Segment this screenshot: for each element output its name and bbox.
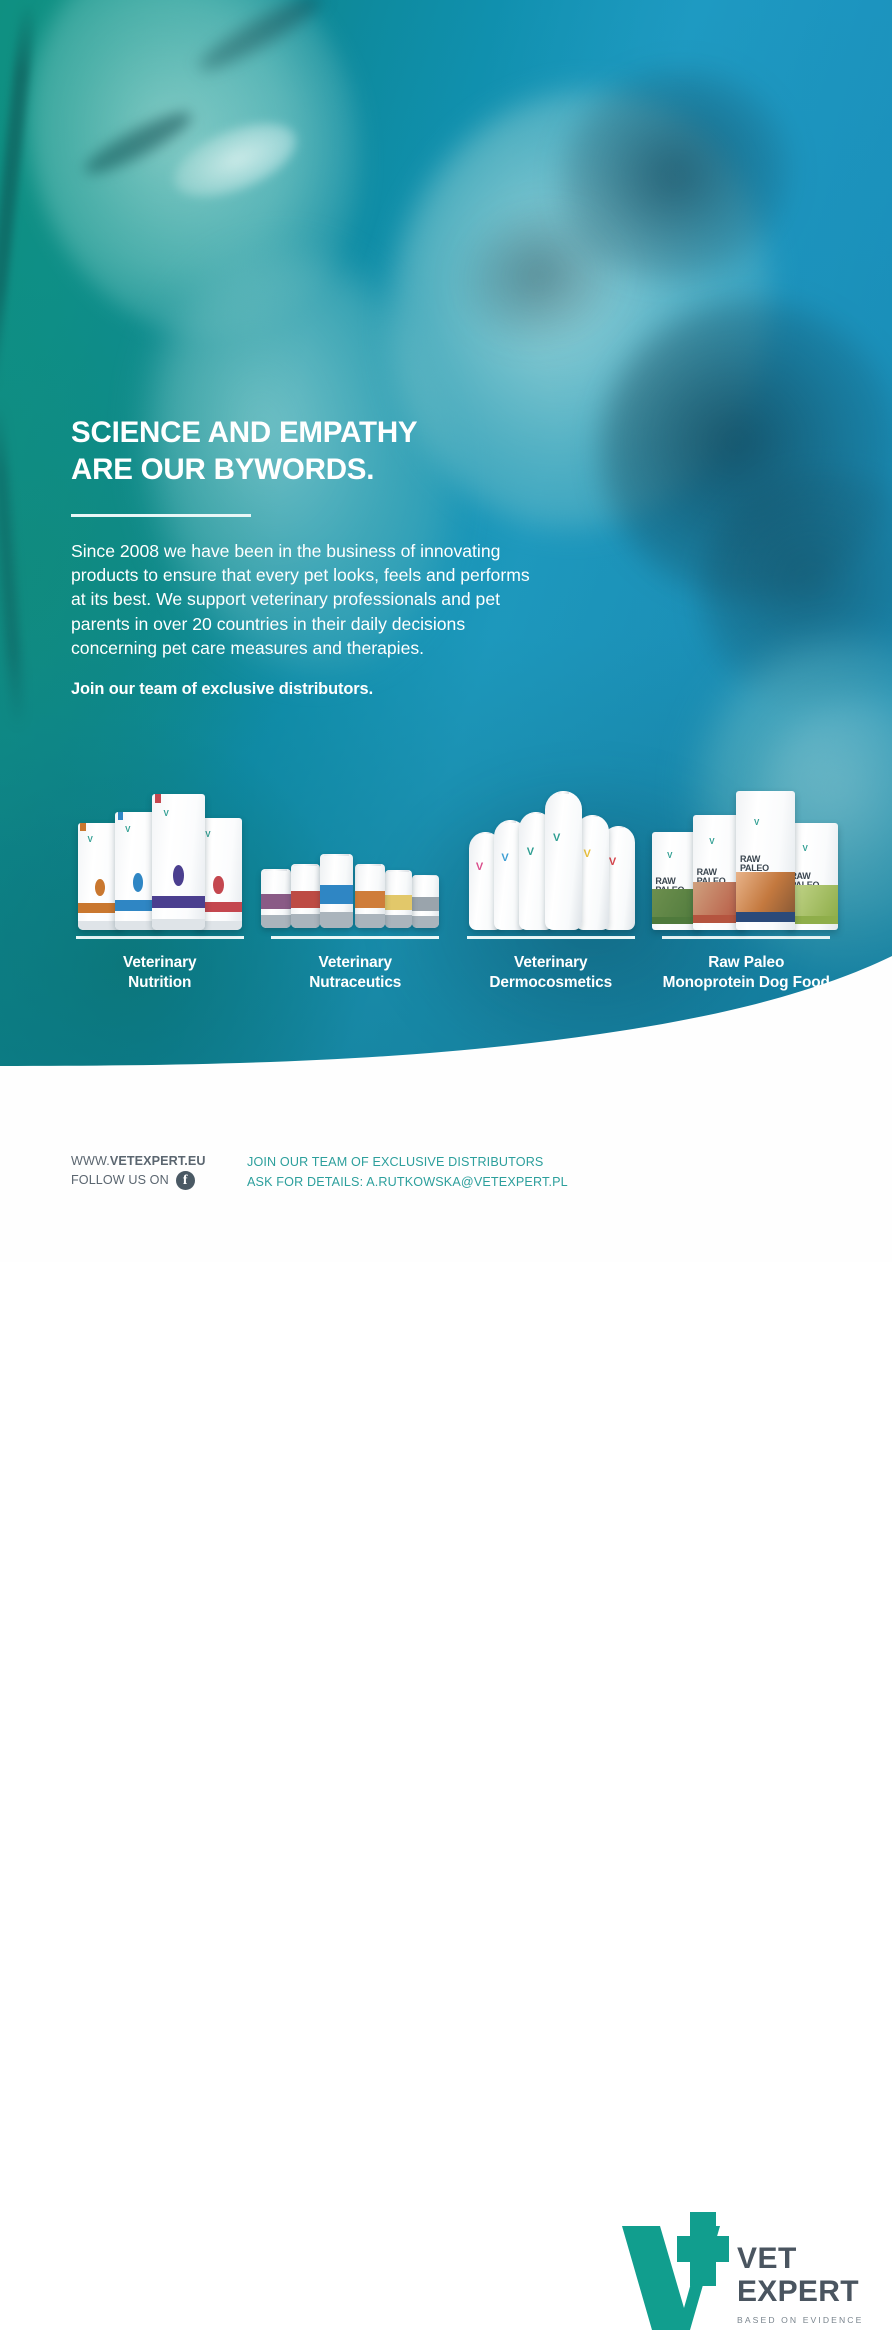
logo-tagline: BASED ON EVIDENCE bbox=[737, 2316, 863, 2325]
footer-distributor-block: JOIN OUR TEAM OF EXCLUSIVE DISTRIBUTORS … bbox=[247, 1152, 568, 1192]
supplement-bottle-4 bbox=[355, 864, 384, 928]
supplement-bottles-icon bbox=[258, 786, 454, 934]
category-label-1: Veterinary Nutrition bbox=[123, 953, 196, 992]
logo-line-expert: EXPERT bbox=[737, 2277, 863, 2307]
product-category-row: V V V bbox=[62, 786, 844, 996]
logo-wordmark: VET EXPERT BASED ON EVIDENCE bbox=[737, 2244, 863, 2325]
product-category-veterinary-dermocosmetics[interactable]: V V V V V V bbox=[453, 786, 649, 996]
product-category-veterinary-nutrition[interactable]: V V V bbox=[62, 786, 258, 996]
supplement-bottle-2 bbox=[291, 864, 320, 928]
hero-copy-block: SCIENCE AND EMPATHY ARE OUR BYWORDS. Sin… bbox=[71, 414, 541, 699]
facebook-icon[interactable]: f bbox=[176, 1171, 195, 1190]
cosmetic-bottle-4: V bbox=[545, 791, 582, 930]
supplement-bottle-3 bbox=[320, 854, 353, 928]
product-category-raw-paleo[interactable]: V RAWPALEO V RAWPALEO V RAWPALEO bbox=[649, 786, 845, 996]
category-label-2: Veterinary Nutraceutics bbox=[309, 953, 401, 992]
website-domain: VETEXPERT.EU bbox=[110, 1152, 206, 1171]
food-bag-3: V bbox=[152, 794, 205, 930]
distributor-headline: JOIN OUR TEAM OF EXCLUSIVE DISTRIBUTORS bbox=[247, 1152, 568, 1172]
category-divider-3 bbox=[467, 936, 635, 939]
website-row[interactable]: WWW. VETEXPERT.EU bbox=[71, 1152, 206, 1171]
supplement-bottle-1 bbox=[261, 869, 290, 928]
raw-paleo-bag-3: V RAWPALEO bbox=[736, 791, 795, 930]
cosmetic-bottles-icon: V V V V V V bbox=[453, 786, 649, 934]
category-divider-4 bbox=[662, 936, 830, 939]
footer: WWW. VETEXPERT.EU FOLLOW US ON f JOIN OU… bbox=[0, 1098, 892, 1262]
distributor-contact[interactable]: ASK FOR DETAILS: A.RUTKOWSKA@VETEXPERT.P… bbox=[247, 1172, 568, 1192]
category-label-4: Raw Paleo Monoprotein Dog Food bbox=[663, 953, 830, 992]
footer-contact-block: WWW. VETEXPERT.EU FOLLOW US ON f bbox=[71, 1152, 206, 1190]
hero-body-text: Since 2008 we have been in the business … bbox=[71, 539, 533, 660]
raw-paleo-bags-icon: V RAWPALEO V RAWPALEO V RAWPALEO bbox=[649, 786, 845, 934]
follow-us-row: FOLLOW US ON f bbox=[71, 1171, 206, 1190]
supplement-bottle-5 bbox=[385, 870, 412, 928]
category-label-3: Veterinary Dermocosmetics bbox=[489, 953, 612, 992]
product-category-veterinary-nutraceutics[interactable]: Veterinary Nutraceutics bbox=[258, 786, 454, 996]
hero-banner: SCIENCE AND EMPATHY ARE OUR BYWORDS. Sin… bbox=[0, 0, 892, 1098]
logo-line-vet: VET bbox=[737, 2244, 863, 2274]
category-divider-2 bbox=[271, 936, 439, 939]
page-title: SCIENCE AND EMPATHY ARE OUR BYWORDS. bbox=[71, 414, 541, 488]
website-prefix: WWW. bbox=[71, 1152, 110, 1171]
supplement-bottle-6 bbox=[412, 875, 439, 928]
category-divider-1 bbox=[76, 936, 244, 939]
follow-us-label: FOLLOW US ON bbox=[71, 1171, 169, 1190]
hero-cta-text: Join our team of exclusive distributors. bbox=[71, 680, 541, 699]
headline-divider bbox=[71, 514, 251, 517]
pet-food-bags-icon: V V V bbox=[62, 786, 258, 934]
